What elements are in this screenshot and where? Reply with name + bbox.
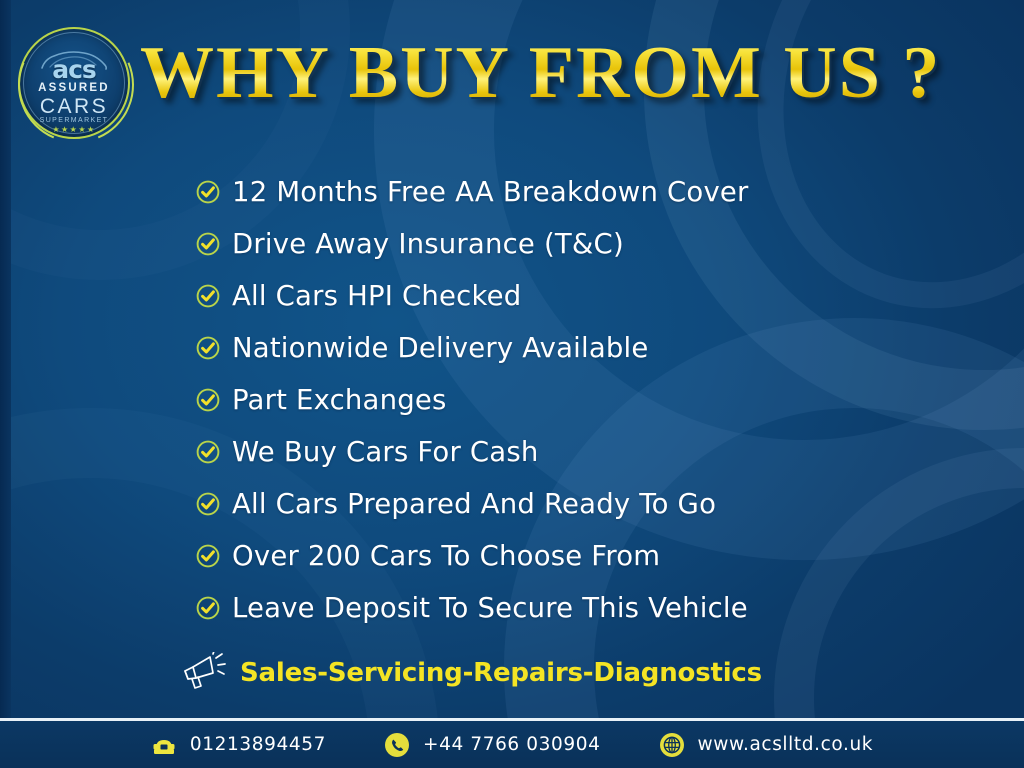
megaphone-icon <box>180 652 226 694</box>
services-strapline: Sales-Servicing-Repairs-Diagnostics <box>180 652 762 694</box>
footer-contact-value: www.acslltd.co.uk <box>698 734 874 755</box>
benefit-item: Leave Deposit To Secure This Vehicle <box>196 582 986 634</box>
company-logo: acs ASSURED CARS SUPERMARKET ★★★★★ <box>18 27 130 139</box>
check-circle-icon <box>196 492 220 516</box>
footer-contact-value: 01213894457 <box>190 734 326 755</box>
check-circle-icon <box>196 232 220 256</box>
benefit-item: Nationwide Delivery Available <box>196 322 986 374</box>
check-circle-icon <box>196 596 220 620</box>
landline-phone-icon <box>151 732 177 758</box>
globe-icon <box>659 732 685 758</box>
benefit-item: We Buy Cars For Cash <box>196 426 986 478</box>
benefit-label: Part Exchanges <box>232 384 447 416</box>
page-title: WHY BUY FROM US ? <box>140 36 970 110</box>
benefit-label: 12 Months Free AA Breakdown Cover <box>232 176 749 208</box>
benefit-item: All Cars Prepared And Ready To Go <box>196 478 986 530</box>
logo-stars: ★★★★★ <box>18 125 130 134</box>
benefit-label: Over 200 Cars To Choose From <box>232 540 660 572</box>
logo-supermarket-text: SUPERMARKET <box>18 117 130 124</box>
footer-contact-item[interactable]: www.acslltd.co.uk <box>659 732 874 758</box>
logo-assured-text: ASSURED <box>18 82 130 94</box>
check-circle-icon <box>196 336 220 360</box>
check-circle-icon <box>196 180 220 204</box>
benefit-item: All Cars HPI Checked <box>196 270 986 322</box>
benefits-list: 12 Months Free AA Breakdown Cover Drive … <box>196 166 986 634</box>
benefit-item: Over 200 Cars To Choose From <box>196 530 986 582</box>
benefit-label: Drive Away Insurance (T&C) <box>232 228 624 260</box>
benefit-item: 12 Months Free AA Breakdown Cover <box>196 166 986 218</box>
benefit-label: Leave Deposit To Secure This Vehicle <box>232 592 748 624</box>
footer-contact-item[interactable]: +44 7766 030904 <box>384 732 601 758</box>
benefit-label: All Cars Prepared And Ready To Go <box>232 488 716 520</box>
left-edge-band <box>0 0 11 768</box>
benefit-label: We Buy Cars For Cash <box>232 436 539 468</box>
benefit-label: Nationwide Delivery Available <box>232 332 649 364</box>
promo-poster: acs ASSURED CARS SUPERMARKET ★★★★★ WHY B… <box>0 0 1024 768</box>
footer-contact-bar: 01213894457 +44 7766 030904 www.acslltd.… <box>0 721 1024 768</box>
logo-acs-text: acs <box>18 55 130 84</box>
check-circle-icon <box>196 284 220 308</box>
logo-cars-text: CARS <box>18 95 130 119</box>
footer-contact-value: +44 7766 030904 <box>423 734 601 755</box>
check-circle-icon <box>196 544 220 568</box>
benefit-item: Drive Away Insurance (T&C) <box>196 218 986 270</box>
check-circle-icon <box>196 440 220 464</box>
mobile-phone-icon <box>384 732 410 758</box>
benefit-label: All Cars HPI Checked <box>232 280 521 312</box>
benefit-item: Part Exchanges <box>196 374 986 426</box>
footer-contact-item[interactable]: 01213894457 <box>151 732 326 758</box>
services-text: Sales-Servicing-Repairs-Diagnostics <box>240 658 762 688</box>
check-circle-icon <box>196 388 220 412</box>
